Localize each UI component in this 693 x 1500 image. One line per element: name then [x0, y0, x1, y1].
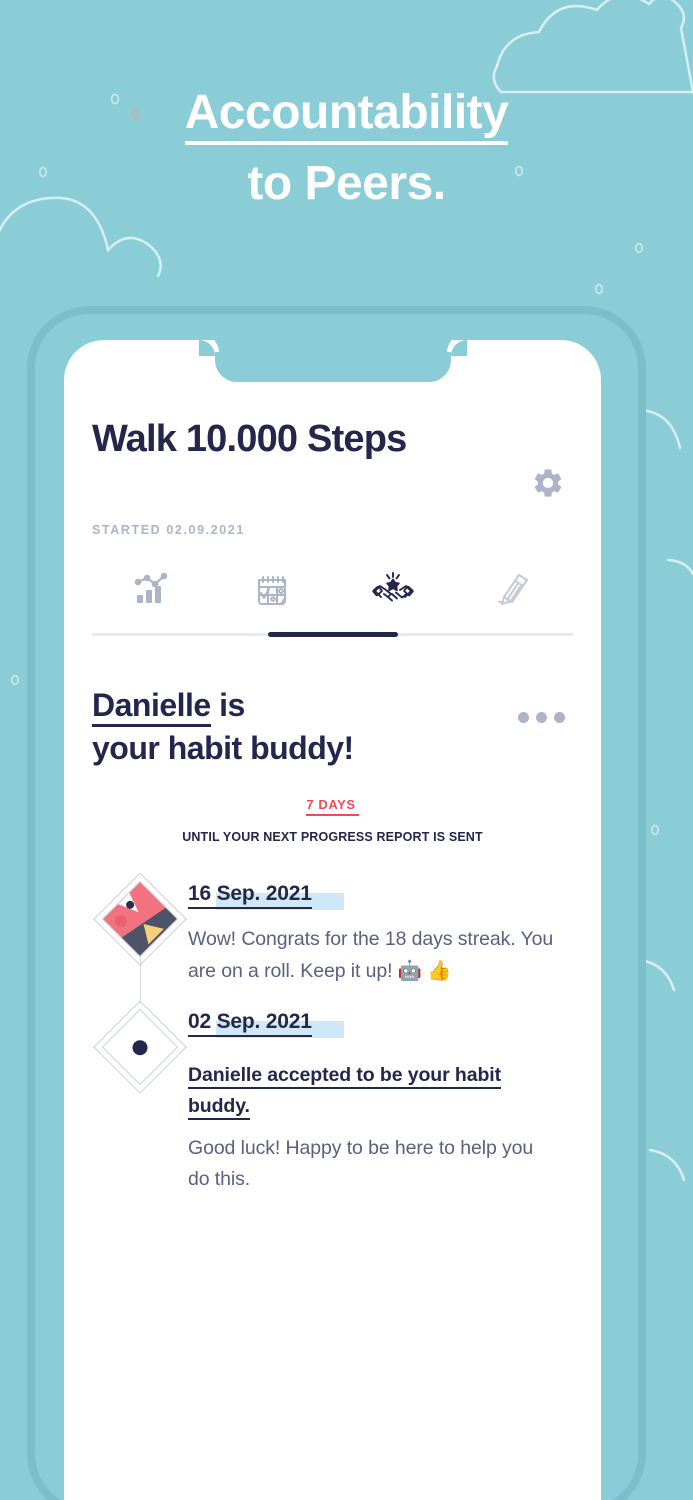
calendar-icon	[252, 569, 292, 609]
timeline-marker	[92, 882, 188, 987]
more-options-button[interactable]	[518, 712, 565, 723]
timeline-item: 16 Sep. 2021 Wow! Congrats for the 18 da…	[92, 882, 573, 1009]
more-dots-icon	[536, 712, 547, 723]
buddy-headline-rest: is	[211, 687, 245, 723]
buddy-headline: Danielle is your habit buddy!	[92, 684, 354, 770]
started-date-label: STARTED 02.09.2021	[92, 523, 573, 537]
timeline-marker	[92, 1010, 188, 1196]
timeline-headline-text[interactable]: Danielle accepted to be your habit buddy…	[188, 1064, 501, 1121]
event-diamond-inner	[102, 1008, 178, 1084]
more-dots-icon	[554, 712, 565, 723]
tab-indicator-track	[92, 633, 573, 636]
avatar-diamond-frame	[93, 873, 186, 966]
settings-button[interactable]	[531, 466, 565, 505]
phone-notch	[215, 340, 451, 382]
more-dots-icon	[518, 712, 529, 723]
avatar-diamond-inner	[102, 881, 178, 957]
event-dot-icon	[133, 1039, 148, 1054]
hero-headline: Accountability to Peers.	[0, 88, 693, 210]
buddy-name-link[interactable]: Danielle	[92, 687, 211, 727]
countdown-block: 7 DAYS UNTIL YOUR NEXT PROGRESS REPORT I…	[92, 796, 573, 844]
timeline-body: 16 Sep. 2021 Wow! Congrats for the 18 da…	[188, 882, 573, 987]
tab-stats[interactable]	[92, 561, 212, 617]
timeline-date-wrap: 02 Sep. 2021	[188, 1010, 312, 1034]
pencil-icon	[493, 569, 533, 609]
phone-screen: Walk 10.000 Steps STARTED 02.09.2021	[64, 340, 601, 1500]
countdown-days: 7 DAYS	[306, 797, 358, 816]
chart-bar-icon	[132, 569, 172, 609]
countdown-subtitle: UNTIL YOUR NEXT PROGRESS REPORT IS SENT	[92, 830, 573, 844]
avatar	[103, 882, 178, 957]
timeline: 16 Sep. 2021 Wow! Congrats for the 18 da…	[92, 882, 573, 1217]
page-title: Walk 10.000 Steps	[92, 418, 407, 461]
buddy-headline-line2: your habit buddy!	[92, 730, 354, 766]
tab-calendar[interactable]	[212, 561, 332, 617]
tab-peers[interactable]	[333, 561, 453, 617]
timeline-message: Good luck! Happy to be here to help you …	[188, 1133, 555, 1196]
event-diamond-frame	[93, 1000, 186, 1093]
gear-icon	[531, 466, 565, 500]
hero-line-2: to Peers.	[0, 159, 693, 209]
timeline-body: 02 Sep. 2021 Danielle accepted to be you…	[188, 1010, 573, 1196]
tab-indicator-active	[268, 632, 398, 637]
timeline-headline: Danielle accepted to be your habit buddy…	[188, 1060, 555, 1123]
tab-bar	[92, 561, 573, 617]
buddy-section: Danielle is your habit buddy!	[92, 684, 573, 770]
timeline-item: 02 Sep. 2021 Danielle accepted to be you…	[92, 1010, 573, 1218]
timeline-date[interactable]: 16 Sep. 2021	[188, 882, 312, 909]
timeline-message: Wow! Congrats for the 18 days streak. Yo…	[188, 924, 555, 987]
hero-line-1: Accountability	[185, 88, 509, 145]
handshake-icon	[371, 567, 415, 611]
timeline-date[interactable]: 02 Sep. 2021	[188, 1010, 312, 1037]
tab-notes[interactable]	[453, 561, 573, 617]
timeline-date-wrap: 16 Sep. 2021	[188, 882, 312, 906]
